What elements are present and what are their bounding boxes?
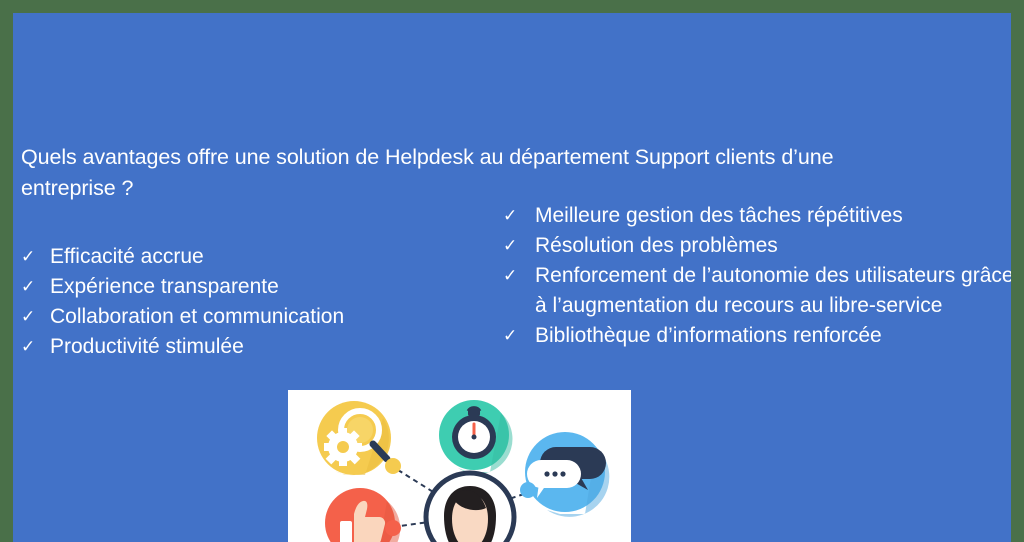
connector-dot xyxy=(385,520,401,536)
list-item: ✓ Expérience transparente xyxy=(21,272,451,302)
list-item-label: Expérience transparente xyxy=(50,272,451,302)
list-item-label: Renforcement de l’autonomie des utilisat… xyxy=(535,261,1011,321)
list-item: ✓ Efficacité accrue xyxy=(21,242,451,272)
list-item: ✓ Renforcement de l’autonomie des utilis… xyxy=(503,261,1011,321)
list-item: ✓ Meilleure gestion des tâches répétitiv… xyxy=(503,201,1011,231)
check-icon: ✓ xyxy=(21,302,50,332)
check-icon: ✓ xyxy=(503,201,535,231)
check-icon: ✓ xyxy=(503,321,535,351)
connector-dot xyxy=(520,482,536,498)
page-title: Quels avantages offre une solution de He… xyxy=(21,142,916,204)
illustration-graphic xyxy=(288,390,631,542)
list-item-label: Collaboration et communication xyxy=(50,302,451,332)
customer-support-network-illustration xyxy=(288,390,631,542)
list-item: ✓ Résolution des problèmes xyxy=(503,231,1011,261)
list-item-label: Bibliothèque d’informations renforcée xyxy=(535,321,1011,351)
connector-dot xyxy=(385,458,401,474)
benefits-list-right: ✓ Meilleure gestion des tâches répétitiv… xyxy=(503,201,1011,351)
check-icon: ✓ xyxy=(503,231,535,261)
list-item: ✓ Bibliothèque d’informations renforcée xyxy=(503,321,1011,351)
user-avatar-icon xyxy=(426,473,514,542)
thumbs-up-icon xyxy=(325,488,401,542)
check-icon: ✓ xyxy=(21,242,50,272)
list-item: ✓ Collaboration et communication xyxy=(21,302,451,332)
chat-bubbles-icon xyxy=(520,432,609,517)
list-item-label: Résolution des problèmes xyxy=(535,231,1011,261)
check-icon: ✓ xyxy=(503,261,535,291)
search-gear-icon xyxy=(317,401,401,475)
list-item-label: Efficacité accrue xyxy=(50,242,451,272)
slide-outer-frame: Quels avantages offre une solution de He… xyxy=(0,0,1024,542)
benefits-list-left: ✓ Efficacité accrue ✓ Expérience transpa… xyxy=(21,242,451,362)
slide-canvas: Quels avantages offre une solution de He… xyxy=(13,13,1011,542)
list-item-label: Productivité stimulée xyxy=(50,332,451,362)
list-item-label: Meilleure gestion des tâches répétitives xyxy=(535,201,1011,231)
check-icon: ✓ xyxy=(21,272,50,302)
check-icon: ✓ xyxy=(21,332,50,362)
list-item: ✓ Productivité stimulée xyxy=(21,332,451,362)
